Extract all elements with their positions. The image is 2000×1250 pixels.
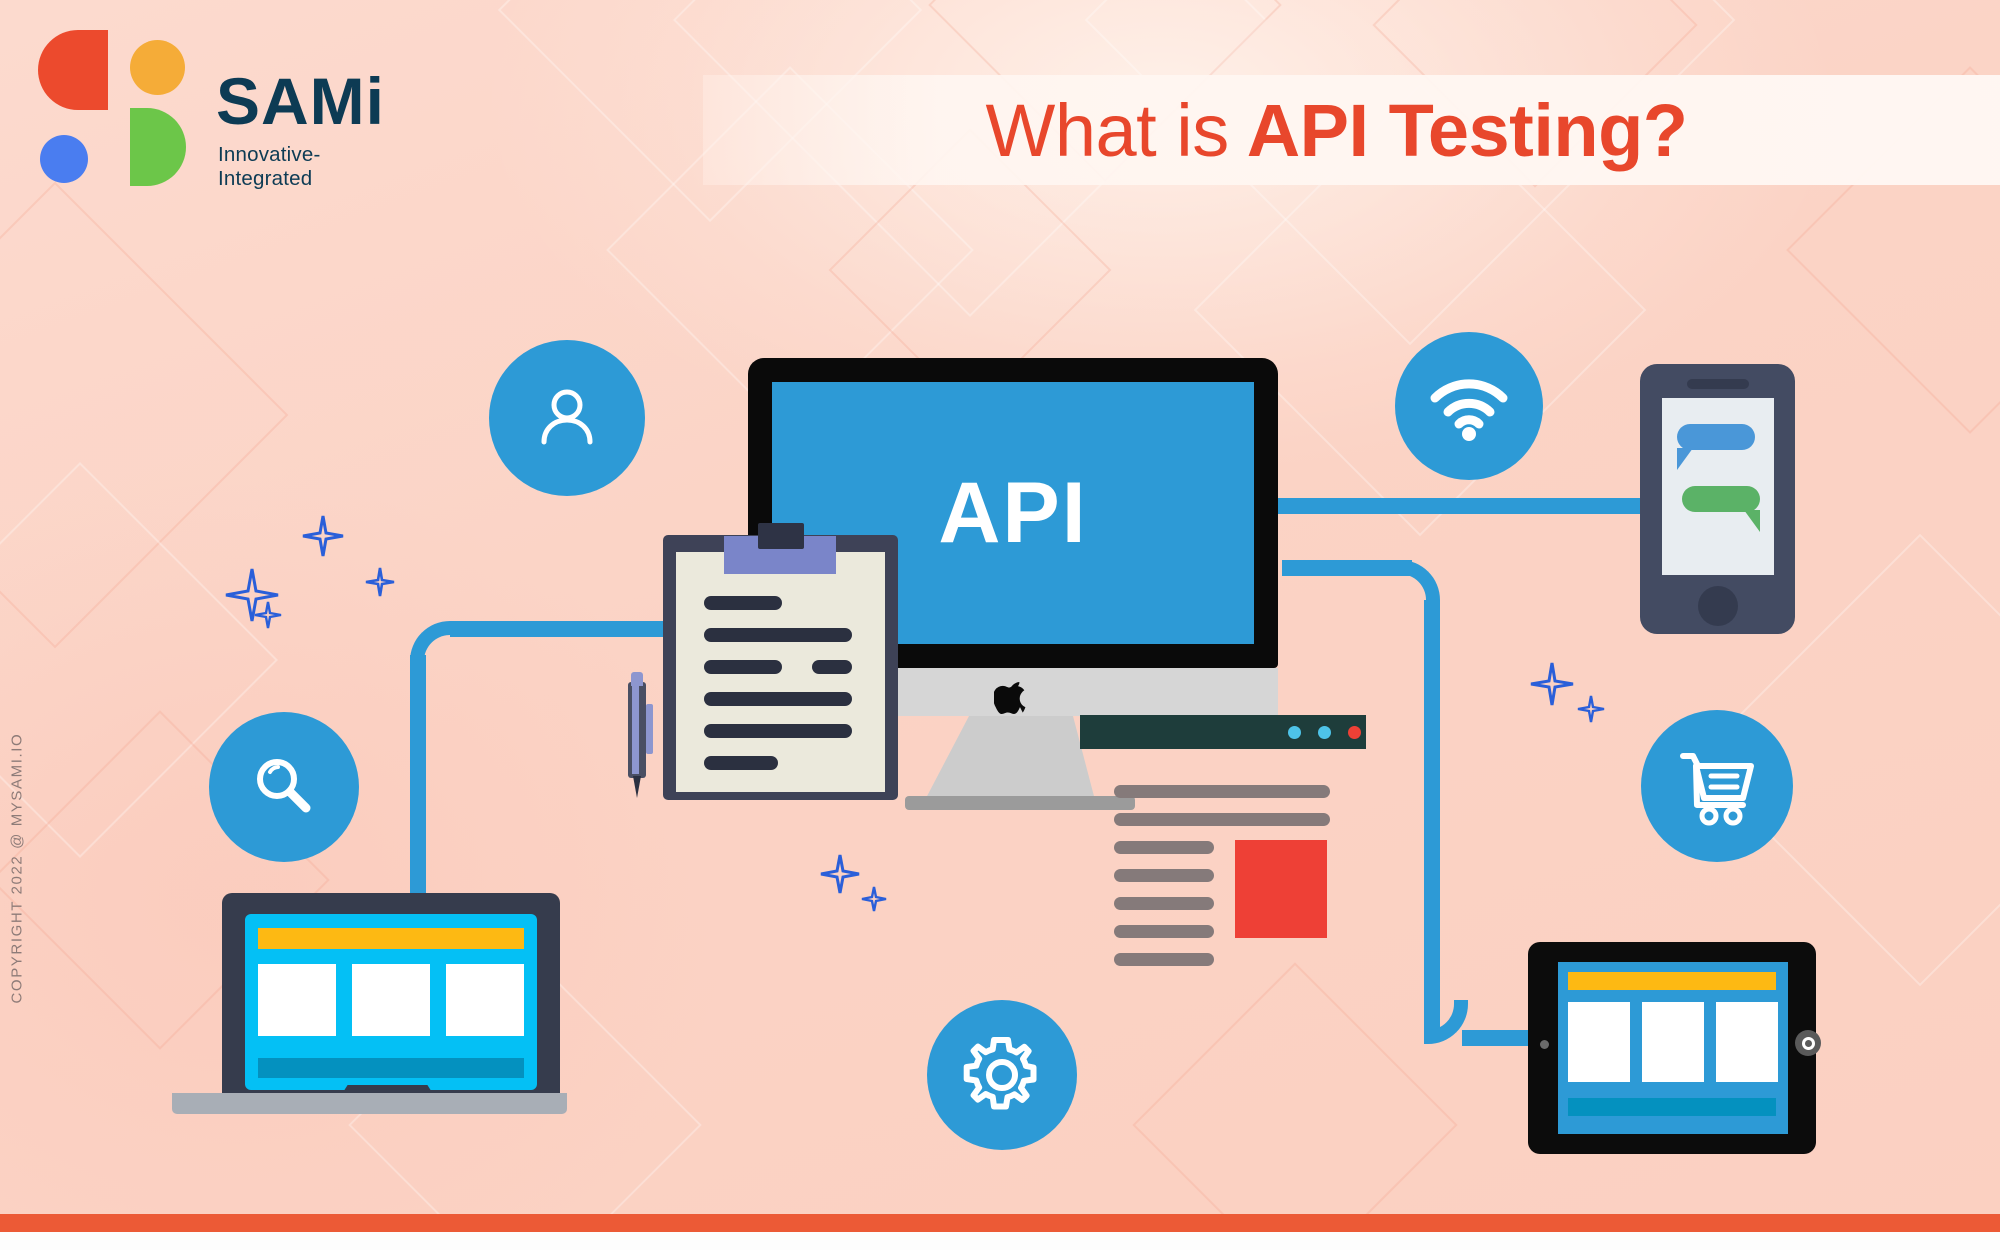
gear-icon [959, 1032, 1045, 1118]
tablet-screen-card [1568, 1002, 1630, 1082]
clipboard-line [704, 660, 782, 674]
logo-wordmark: SAMi [216, 74, 385, 128]
wifi-icon-badge[interactable] [1395, 332, 1543, 480]
footer-bar-orange [0, 1214, 2000, 1232]
shopping-cart-icon [1675, 746, 1759, 826]
connector-api-tablet-vertical [1424, 600, 1440, 1030]
laptop-screen-card [352, 964, 430, 1036]
sparkle-icon [818, 852, 862, 896]
footer-bar-white [0, 1232, 2000, 1250]
chat-bubble-incoming [1677, 424, 1755, 450]
logo-shape-yellow-circle [130, 40, 185, 95]
page-title-bold: API Testing? [1247, 88, 1688, 173]
sparkle-icon [253, 600, 283, 630]
connector-api-phone [1270, 498, 1660, 514]
texture-shape [1132, 962, 1457, 1250]
monitor-stand-foot [905, 796, 1135, 810]
pen-icon [628, 672, 646, 796]
tablet-screen-footer-bar [1568, 1098, 1776, 1116]
server-led [1288, 726, 1301, 739]
sparkle-icon [300, 513, 346, 559]
sparkle-icon [1576, 694, 1606, 724]
laptop-screen-card [446, 964, 524, 1036]
article-line [1114, 813, 1330, 826]
sparkle-icon [364, 566, 396, 598]
page-title: What is API Testing? [703, 75, 2000, 185]
logo-shape-green-semicircle [130, 108, 186, 186]
pen-cap [631, 672, 643, 686]
clipboard-line [704, 756, 778, 770]
article-line [1114, 785, 1330, 798]
pen-clip [646, 704, 653, 754]
article-line [1114, 869, 1214, 882]
article-line [1114, 925, 1214, 938]
sparkle-icon [1528, 660, 1576, 708]
server-led [1318, 726, 1331, 739]
laptop-base [172, 1093, 567, 1114]
laptop-screen-card [258, 964, 336, 1036]
tablet-screen-header-bar [1568, 972, 1776, 990]
monitor-stand-neck [925, 716, 1095, 800]
api-screen-label: API [938, 464, 1087, 563]
article-line [1114, 841, 1214, 854]
connector-laptop-elbow [410, 621, 452, 663]
phone-speaker [1687, 379, 1749, 389]
laptop-screen-footer-bar [258, 1058, 524, 1078]
sami-logo-mark [38, 30, 178, 165]
clipboard-line [812, 660, 852, 674]
sami-logo[interactable]: SAMi Innovative-Integrated [38, 30, 383, 170]
tablet-screen-card [1642, 1002, 1704, 1082]
wifi-icon [1427, 370, 1511, 442]
clipboard-line [704, 692, 852, 706]
clipboard-line [704, 628, 852, 642]
article-line [1114, 897, 1214, 910]
pen-tip [633, 776, 641, 798]
page-title-light: What is [986, 88, 1229, 173]
sparkle-icon [860, 885, 888, 913]
user-icon [528, 379, 606, 457]
connector-laptop-vertical [410, 655, 426, 900]
gear-icon-badge[interactable] [927, 1000, 1077, 1150]
tablet-home-button[interactable] [1795, 1030, 1821, 1056]
phone-home-button[interactable] [1698, 586, 1738, 626]
article-line [1114, 953, 1214, 966]
laptop-screen-header-bar [258, 928, 524, 949]
server-led [1348, 726, 1361, 739]
connector-api-tablet-elbow-top [1396, 560, 1440, 604]
logo-shape-red-semicircle [38, 30, 108, 110]
clipboard-clip [758, 523, 804, 549]
header-band: What is API Testing? [703, 75, 2000, 185]
pen-stripe [632, 686, 639, 774]
logo-shape-blue-circle [40, 135, 88, 183]
infographic-canvas: What is API Testing? SAMi Innovative-Int… [0, 0, 2000, 1250]
chat-bubble-incoming-tail [1677, 448, 1693, 470]
user-icon-badge[interactable] [489, 340, 645, 496]
connector-api-tablet-horizontal [1282, 560, 1412, 576]
shopping-cart-icon-badge[interactable] [1641, 710, 1793, 862]
copyright-text: COPYRIGHT 2022 @ MYSAMI.IO [9, 674, 26, 1004]
chat-bubble-outgoing [1682, 486, 1760, 512]
clipboard-line [704, 596, 782, 610]
magnifier-icon-badge[interactable] [209, 712, 359, 862]
chat-bubble-outgoing-tail [1744, 510, 1760, 532]
clipboard-line [704, 724, 852, 738]
article-image-placeholder [1235, 840, 1327, 938]
tablet-screen-card [1716, 1002, 1778, 1082]
logo-tagline: Innovative-Integrated [218, 143, 383, 191]
tablet-camera [1540, 1040, 1549, 1049]
magnifier-icon [245, 748, 323, 826]
